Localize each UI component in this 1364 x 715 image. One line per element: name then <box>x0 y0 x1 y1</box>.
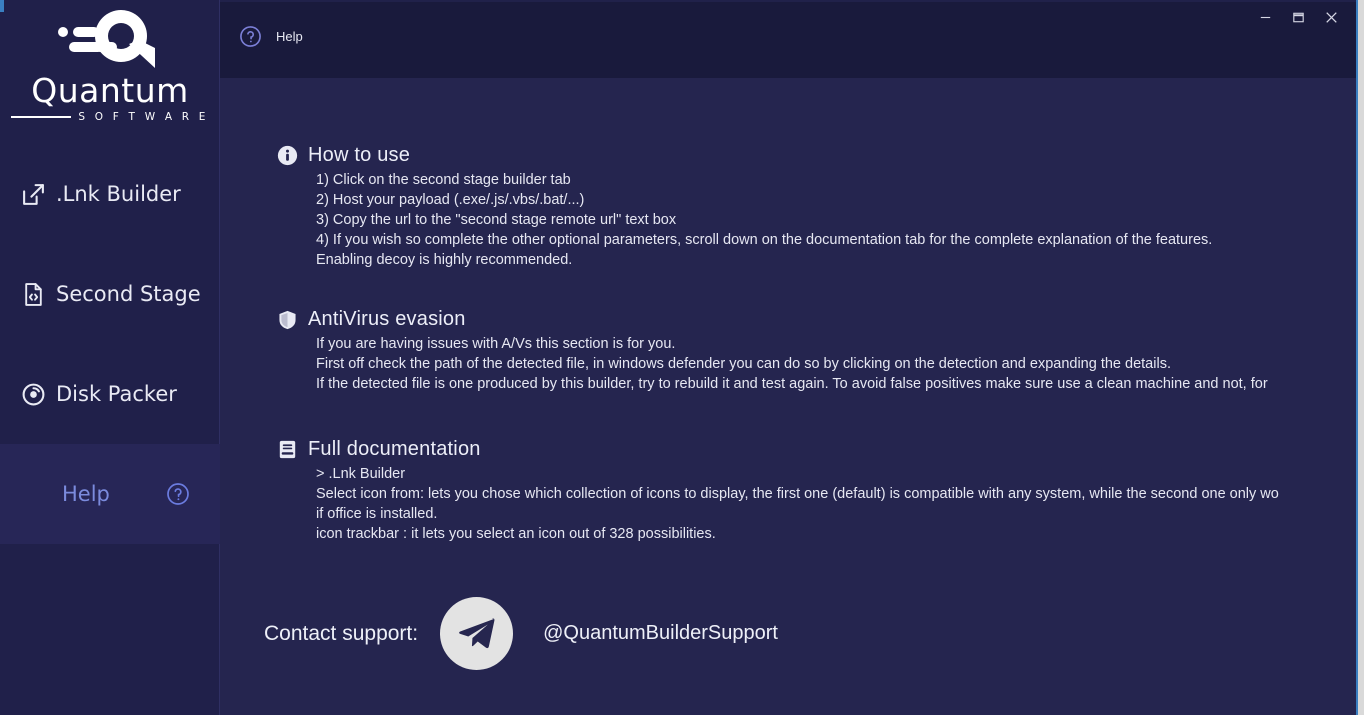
question-circle-icon <box>166 482 190 506</box>
sidebar-item-label: Second Stage <box>56 282 201 306</box>
section-line: If the detected file is one produced by … <box>316 374 1356 394</box>
external-link-icon <box>20 181 46 207</box>
sidebar-item-help[interactable]: Help <box>0 444 220 544</box>
sidebar: Quantum S O F T W A R E .Lnk Builder <box>0 0 220 715</box>
section-title: How to use <box>308 144 410 167</box>
header-bar: Help <box>220 0 1356 78</box>
tab-label: Help <box>276 29 303 44</box>
section-line: If you are having issues with A/Vs this … <box>316 334 1356 354</box>
brand-subtitle-row: S O F T W A R E <box>11 111 208 123</box>
titlebar-highlight <box>220 0 1356 2</box>
section-header: How to use <box>276 144 1356 167</box>
section-antivirus-evasion: AntiVirus evasion If you are having issu… <box>220 308 1356 394</box>
info-circle-icon <box>276 145 298 167</box>
window-controls <box>1249 2 1348 32</box>
contact-support-handle[interactable]: @QuantumBuilderSupport <box>543 622 778 645</box>
section-how-to-use: How to use 1) Click on the second stage … <box>220 144 1356 270</box>
main-content: How to use 1) Click on the second stage … <box>220 78 1356 715</box>
sidebar-item-lnk-builder[interactable]: .Lnk Builder <box>0 144 220 244</box>
contact-support: Contact support: @QuantumBuilderSupport <box>264 597 778 670</box>
section-title: AntiVirus evasion <box>308 308 466 331</box>
application-window: Quantum S O F T W A R E .Lnk Builder <box>0 0 1358 715</box>
section-full-documentation: Full documentation > .Lnk Builder Select… <box>220 438 1356 544</box>
section-line: if office is installed. <box>316 504 1356 524</box>
section-line: Enabling decoy is highly recommended. <box>316 250 1356 270</box>
quantum-q-logo-icon <box>51 6 169 72</box>
sidebar-item-disk-packer[interactable]: Disk Packer <box>0 344 220 444</box>
book-icon <box>276 439 298 461</box>
telegram-icon[interactable] <box>440 597 513 670</box>
section-line: Select icon from: lets you chose which c… <box>316 484 1356 504</box>
maximize-button[interactable] <box>1282 3 1315 31</box>
brand-subtitle: S O F T W A R E <box>78 111 208 123</box>
section-line: icon trackbar : it lets you select an ic… <box>316 524 1356 544</box>
section-header: Full documentation <box>276 438 1356 461</box>
sidebar-item-label: .Lnk Builder <box>56 182 181 206</box>
section-line: > .Lnk Builder <box>316 464 1356 484</box>
close-button[interactable] <box>1315 3 1348 31</box>
section-line: 1) Click on the second stage builder tab <box>316 170 1356 190</box>
section-line: 4) If you wish so complete the other opt… <box>316 230 1356 250</box>
section-header: AntiVirus evasion <box>276 308 1356 331</box>
section-body: If you are having issues with A/Vs this … <box>316 334 1356 394</box>
brand-rule <box>11 116 71 118</box>
file-code-icon <box>20 281 46 307</box>
sidebar-item-label: Disk Packer <box>56 382 177 406</box>
contact-support-label: Contact support: <box>264 622 418 646</box>
section-line: 2) Host your payload (.exe/.js/.vbs/.bat… <box>316 190 1356 210</box>
shield-icon <box>276 309 298 331</box>
brand-name: Quantum <box>31 74 189 107</box>
section-body: 1) Click on the second stage builder tab… <box>316 170 1356 270</box>
brand-logo: Quantum S O F T W A R E <box>0 6 220 138</box>
sidebar-item-second-stage[interactable]: Second Stage <box>0 244 220 344</box>
section-body: > .Lnk Builder Select icon from: lets yo… <box>316 464 1356 544</box>
disc-icon <box>20 381 46 407</box>
tab-help[interactable]: Help <box>239 25 303 48</box>
sidebar-item-label: Help <box>62 482 110 506</box>
minimize-button[interactable] <box>1249 3 1282 31</box>
question-circle-icon <box>239 25 262 48</box>
section-line: First off check the path of the detected… <box>316 354 1356 374</box>
section-line: 3) Copy the url to the "second stage rem… <box>316 210 1356 230</box>
section-title: Full documentation <box>308 438 481 461</box>
